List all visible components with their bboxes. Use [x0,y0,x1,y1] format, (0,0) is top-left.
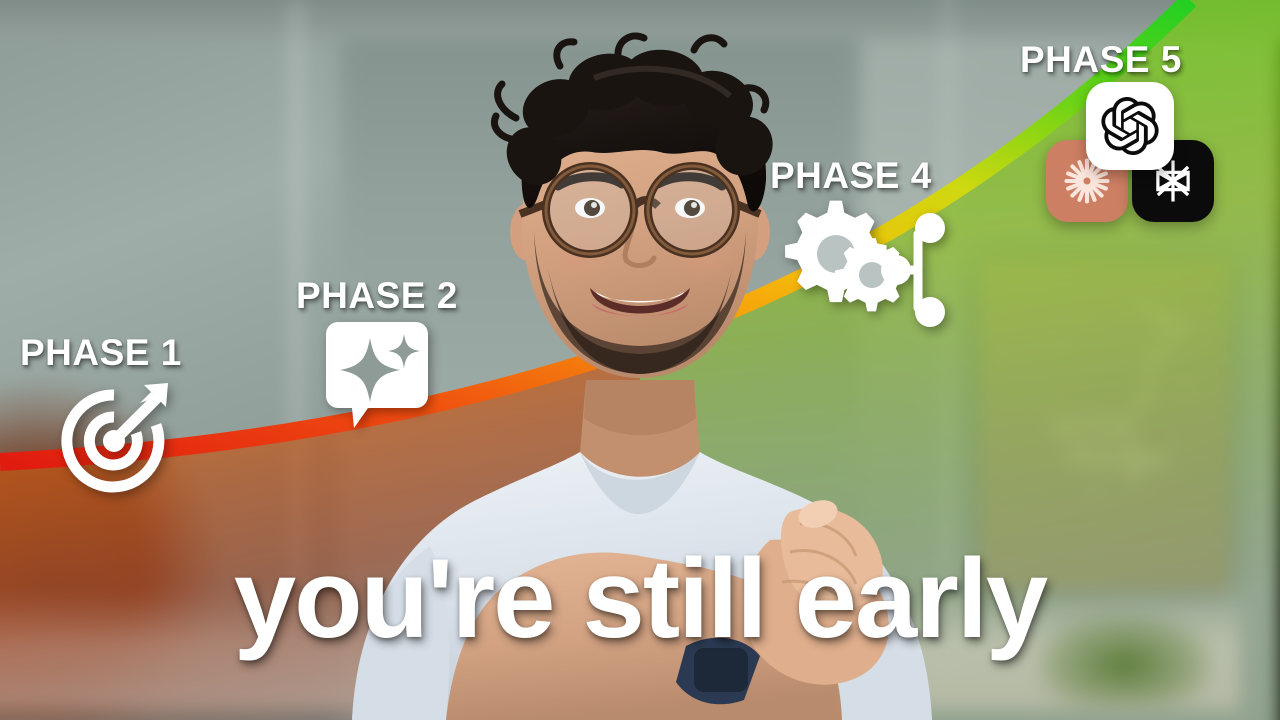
phase-1-group: PHASE 1 [20,334,182,495]
headline-text: you're still early [0,543,1280,655]
phase-1-label: PHASE 1 [20,334,182,371]
phase-2-label: PHASE 2 [296,277,458,314]
ai-chat-sparkle-icon [324,320,458,430]
openai-logo[interactable] [1086,82,1174,170]
phase-5-label: PHASE 5 [1020,41,1230,78]
phase-2-group: PHASE 2 [296,277,458,430]
phase-5-group: PHASE 5 [1020,41,1230,262]
thumbnail-canvas: PHASE 1 PHASE 2 PHASE [0,0,1280,720]
phase-4-group: PHASE 4 [770,157,960,330]
ai-tool-logos [1040,82,1230,262]
target-arrow-icon [52,379,182,495]
gears-workflow-nodes-icon [778,200,960,330]
phase-4-label: PHASE 4 [770,157,960,194]
